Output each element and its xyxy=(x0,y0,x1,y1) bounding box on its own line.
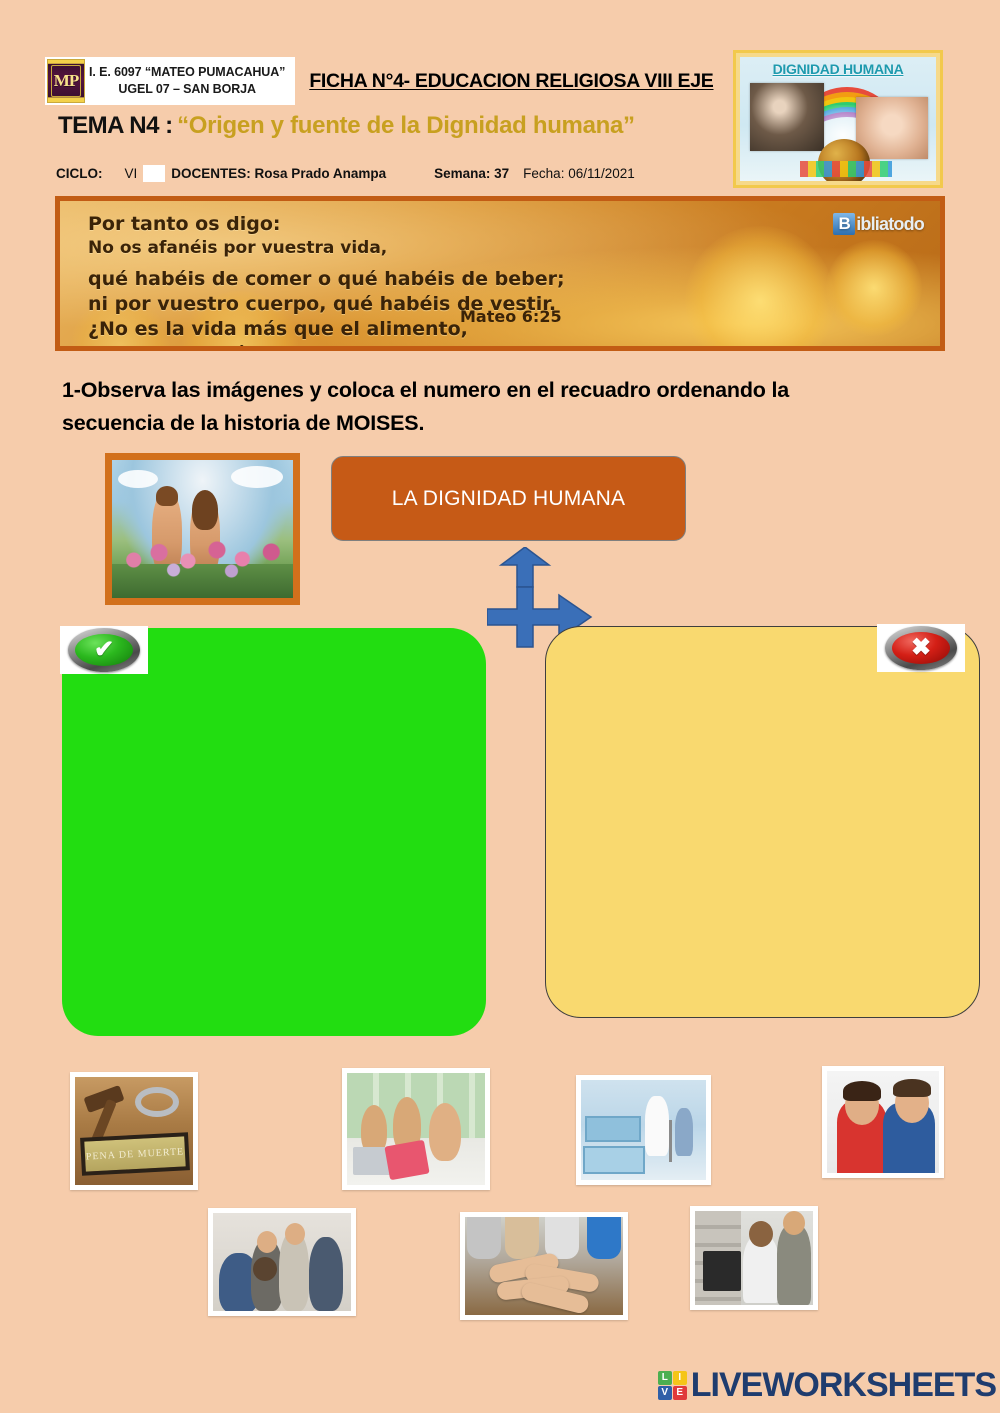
thumbnail-image xyxy=(695,1211,813,1305)
person-torso xyxy=(505,1217,539,1259)
ciclo-blank-field[interactable] xyxy=(143,165,165,182)
cover-photo-family xyxy=(750,83,824,151)
course-meta-line: CICLO: VI DOCENTES: Rosa Prado Anampa Se… xyxy=(56,165,635,182)
consoling-photo xyxy=(213,1213,351,1311)
verse-text: Por tanto os digo: No os afanéis por vue… xyxy=(88,213,565,351)
workplace-harassment-photo xyxy=(695,1211,813,1305)
verse-line-6: y el cuerpo más que el vestido? xyxy=(88,343,565,351)
verse-line-3: qué habéis de comer o qué habéis de bebe… xyxy=(88,268,565,291)
cover-image-title: DIGNIDAD HUMANA xyxy=(740,61,936,77)
logo-cell-e: E xyxy=(673,1386,687,1400)
status-badge-correct: ✔ xyxy=(60,626,148,674)
thumbnail-image xyxy=(213,1213,351,1311)
verse-reference: Mateo 6:25 xyxy=(460,307,562,326)
thumbnail-chisme[interactable] xyxy=(822,1066,944,1178)
liveworksheets-logo: L I V E LIVEWORKSHEETS xyxy=(658,1366,996,1405)
person-head xyxy=(257,1231,277,1253)
person-head xyxy=(253,1257,277,1281)
ciclo-label: CICLO: xyxy=(56,166,103,181)
answer-box-correct[interactable] xyxy=(62,628,486,1036)
tema-label: TEMA N4 : xyxy=(58,112,173,139)
docentes-label: DOCENTES: xyxy=(171,166,251,181)
hospital-photo xyxy=(581,1080,706,1180)
hospital-bed xyxy=(583,1146,645,1174)
cover-photo-hands xyxy=(856,97,928,159)
verse-line-1: Por tanto os digo: xyxy=(88,213,565,236)
thumbnail-hospital[interactable] xyxy=(576,1075,711,1185)
thumbnail-estudiantes[interactable] xyxy=(342,1068,490,1190)
cloud-icon xyxy=(118,470,158,488)
united-hands-photo xyxy=(465,1217,623,1315)
watermark-initial: B xyxy=(833,213,855,235)
flower-decoration xyxy=(685,226,835,351)
thumbnail-image xyxy=(827,1071,939,1173)
school-identity-box: MP I. E. 6097 “MATEO PUMACAHUA” UGEL 07 … xyxy=(45,57,295,105)
thumbnail-image xyxy=(347,1073,485,1185)
person-torso xyxy=(467,1217,501,1259)
crutch-icon xyxy=(669,1120,672,1162)
thumbnail-acoso-laboral[interactable] xyxy=(690,1206,818,1310)
dignidad-humana-title-box-label: LA DIGNIDAD HUMANA xyxy=(392,487,625,511)
building-blocks-icon xyxy=(800,161,892,177)
cross-icon-glyph: ✖ xyxy=(911,636,931,660)
flower-decoration xyxy=(826,240,922,336)
school-name-line2: UGEL 07 – SAN BORJA xyxy=(89,81,285,98)
gossip-photo xyxy=(827,1071,939,1173)
answer-box-incorrect[interactable] xyxy=(545,626,980,1018)
student-figure xyxy=(429,1103,461,1161)
gavel-photo: PENA DE MUERTE xyxy=(75,1077,193,1185)
school-logo-icon: MP xyxy=(47,59,85,103)
hospital-bed xyxy=(585,1116,641,1142)
liveworksheets-wordmark: LIVEWORKSHEETS xyxy=(691,1366,996,1405)
adam-and-eve-image-inner xyxy=(112,460,293,598)
person-head xyxy=(285,1223,305,1245)
liveworksheets-logo-grid: L I V E xyxy=(658,1371,687,1400)
figure-eve-hair xyxy=(192,490,218,530)
school-name: I. E. 6097 “MATEO PUMACAHUA” UGEL 07 – S… xyxy=(89,64,285,98)
tema-value: “Origen y fuente de la Dignidad humana” xyxy=(177,112,635,139)
school-logo-monogram: MP xyxy=(54,71,78,91)
person-torso xyxy=(587,1217,621,1259)
thumbnail-image xyxy=(581,1080,706,1180)
semana-label: Semana: xyxy=(434,166,490,181)
status-badge-incorrect: ✖ xyxy=(877,624,965,672)
woman-head xyxy=(845,1085,879,1125)
dignidad-humana-cover-image: DIGNIDAD HUMANA xyxy=(733,50,943,188)
fecha-value: 06/11/2021 xyxy=(568,166,635,181)
handcuffs-icon xyxy=(135,1087,179,1117)
nameplate-label: PENA DE MUERTE xyxy=(86,1146,185,1162)
man-figure xyxy=(777,1225,811,1305)
logo-cell-i: I xyxy=(673,1371,687,1385)
tablet-icon xyxy=(384,1140,429,1180)
doctor-figure xyxy=(645,1096,669,1156)
thumbnail-image: PENA DE MUERTE xyxy=(75,1077,193,1185)
woman-figure xyxy=(743,1235,779,1303)
school-name-line1: I. E. 6097 “MATEO PUMACAHUA” xyxy=(89,64,285,81)
watermark-text: ibliatodo xyxy=(856,214,924,235)
logo-cell-l: L xyxy=(658,1371,672,1385)
nameplate: PENA DE MUERTE xyxy=(80,1132,190,1176)
cross-icon: ✖ xyxy=(885,626,957,670)
check-icon-glyph: ✔ xyxy=(94,638,114,662)
semana-value: 37 xyxy=(494,166,509,181)
figure-adam-hair xyxy=(156,486,178,506)
check-icon: ✔ xyxy=(68,628,140,672)
thumbnail-pena-de-muerte[interactable]: PENA DE MUERTE xyxy=(70,1072,198,1190)
adam-and-eve-image xyxy=(105,453,300,605)
bible-verse-banner: Por tanto os digo: No os afanéis por vue… xyxy=(55,196,945,351)
garden-flowers xyxy=(112,530,293,580)
cover-image-inner: DIGNIDAD HUMANA xyxy=(740,57,936,181)
cloud-icon xyxy=(231,466,283,488)
bibliatodo-watermark: Bibliatodo xyxy=(833,213,924,235)
thumbnail-manos-unidas[interactable] xyxy=(460,1212,628,1320)
logo-cell-v: V xyxy=(658,1386,672,1400)
ciclo-value: VI xyxy=(125,166,138,181)
thumbnail-image xyxy=(465,1217,623,1315)
fecha-label: Fecha: xyxy=(523,166,564,181)
worksheet-title: FICHA N°4- EDUCACION RELIGIOSA VIII EJE xyxy=(309,70,713,93)
child-figure xyxy=(675,1108,693,1156)
verse-line-2: No os afanéis por vuestra vida, xyxy=(88,238,565,259)
tema-line: TEMA N4 : “Origen y fuente de la Dignida… xyxy=(58,112,635,140)
thumbnail-consuelo[interactable] xyxy=(208,1208,356,1316)
docentes-value: Rosa Prado Anampa xyxy=(255,166,387,181)
person-figure xyxy=(309,1237,343,1311)
exercise-instruction: 1-Observa las imágenes y coloca el numer… xyxy=(62,374,882,441)
header-row: MP I. E. 6097 “MATEO PUMACAHUA” UGEL 07 … xyxy=(45,55,745,107)
monitor-icon xyxy=(703,1251,741,1291)
students-photo xyxy=(347,1073,485,1185)
man-head xyxy=(895,1083,929,1123)
dignidad-humana-title-box[interactable]: LA DIGNIDAD HUMANA xyxy=(331,456,686,541)
